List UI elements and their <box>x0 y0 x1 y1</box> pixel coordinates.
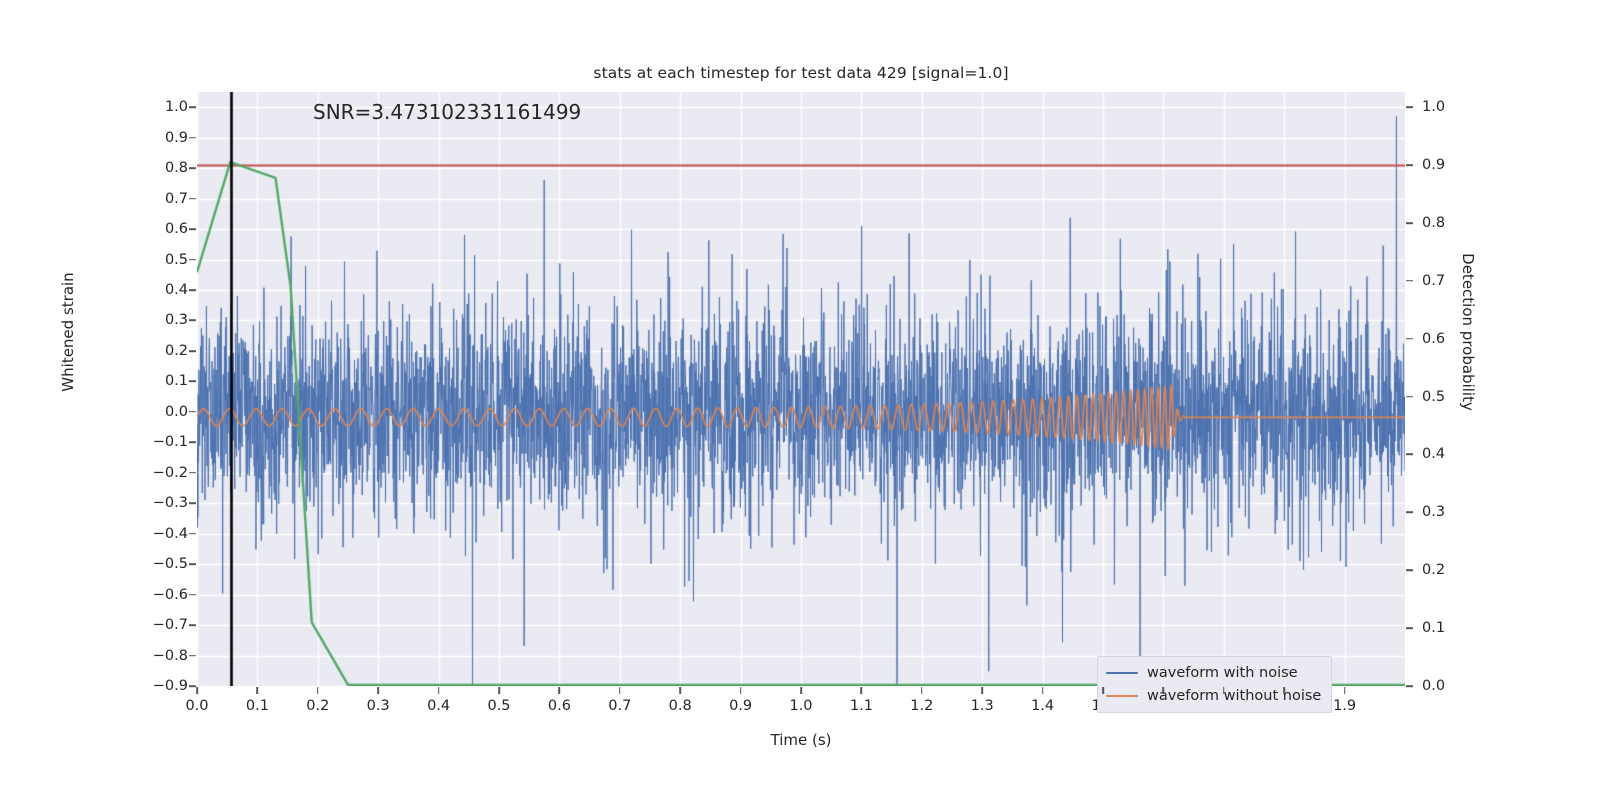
y-axis-left-tick-label: 0.6 <box>165 221 188 237</box>
y-axis-left-tick-label: 0.2 <box>165 343 188 359</box>
x-axis-tick-label: 1.9 <box>1333 698 1356 714</box>
x-axis-tick-label: 0.0 <box>185 698 208 714</box>
x-axis-tick-mark <box>317 687 319 694</box>
y-axis-left-tick-label: 0.5 <box>165 252 188 268</box>
legend-item: waveform without noise <box>1106 686 1321 706</box>
x-axis-tick-label: 0.5 <box>487 698 510 714</box>
y-axis-left-tick-mark <box>189 533 196 535</box>
x-axis-tick-label: 1.2 <box>910 698 933 714</box>
y-axis-left-tick-label: −0.2 <box>153 465 188 481</box>
x-axis-tick-label: 0.2 <box>306 698 329 714</box>
y-axis-left-tick-mark <box>189 289 196 291</box>
x-axis-tick-mark <box>800 687 802 694</box>
y-axis-right-tick-label: 0.4 <box>1422 446 1445 462</box>
y-axis-left-tick-label: −0.4 <box>153 526 188 542</box>
y-axis-left-ticks: 1.00.90.80.70.60.50.40.30.20.10.0−0.1−0.… <box>150 92 188 686</box>
y-axis-right-tick-mark <box>1406 685 1413 687</box>
y-axis-right-tick-mark <box>1406 338 1413 340</box>
matplotlib-figure: stats at each timestep for test data 429… <box>0 0 1600 800</box>
x-axis-tick-mark <box>257 687 259 694</box>
x-axis-tick-mark <box>1042 687 1044 694</box>
y-axis-left-tick-mark <box>189 381 196 383</box>
x-axis-tick-mark <box>438 687 440 694</box>
x-axis-label: Time (s) <box>197 731 1405 749</box>
x-axis-tick-label: 1.3 <box>971 698 994 714</box>
y-axis-right-label: Detection probability <box>1459 202 1477 462</box>
y-axis-left-tick-mark <box>189 228 196 230</box>
page-title: stats at each timestep for test data 429… <box>197 64 1405 82</box>
x-axis-tick-mark <box>981 687 983 694</box>
x-axis-tick-label: 0.3 <box>367 698 390 714</box>
legend-label: waveform without noise <box>1147 688 1321 704</box>
y-axis-left-tick-mark <box>189 655 196 657</box>
x-axis-tick-mark <box>679 687 681 694</box>
y-axis-right-tick-label: 0.9 <box>1422 157 1445 173</box>
y-axis-left-tick-label: −0.8 <box>153 648 188 664</box>
y-axis-right-ticks: 1.00.90.80.70.60.50.40.30.20.10.0 <box>1422 92 1462 686</box>
y-axis-left-tick-label: 0.4 <box>165 282 188 298</box>
x-axis-tick-label: 0.6 <box>548 698 571 714</box>
x-axis-tick-mark <box>1283 687 1285 694</box>
y-axis-left-tick-mark <box>189 594 196 596</box>
x-axis-tick-label: 1.1 <box>850 698 873 714</box>
x-axis-tick-mark <box>1163 687 1165 694</box>
y-axis-right-tick-label: 0.1 <box>1422 620 1445 636</box>
y-axis-right-tick-mark <box>1406 454 1413 456</box>
y-axis-right-tick-mark <box>1406 280 1413 282</box>
y-axis-left-label: Whitened strain <box>59 202 77 462</box>
y-axis-right-tick-mark <box>1406 164 1413 166</box>
x-axis-tick-mark <box>861 687 863 694</box>
y-axis-left-tick-mark <box>189 259 196 261</box>
x-axis-tick-label: 1.4 <box>1031 698 1054 714</box>
x-axis-ticks: 0.00.10.20.30.40.50.60.70.80.91.01.11.21… <box>0 698 1600 722</box>
y-axis-left-tick-mark <box>189 502 196 504</box>
y-axis-right-tick-mark <box>1406 627 1413 629</box>
y-axis-left-tick-mark <box>189 442 196 444</box>
y-axis-right-tick-label: 0.2 <box>1422 562 1445 578</box>
x-axis-tick-mark <box>377 687 379 694</box>
snr-annotation: SNR=3.473102331161499 <box>313 100 581 124</box>
x-axis-tick-label: 0.1 <box>246 698 269 714</box>
y-axis-right-tick-label: 0.6 <box>1422 331 1445 347</box>
x-axis-tick-mark <box>196 687 198 694</box>
y-axis-left-tick-label: −0.7 <box>153 617 188 633</box>
x-axis-tick-mark <box>1102 687 1104 694</box>
y-axis-left-tick-mark <box>189 198 196 200</box>
x-axis-tick-mark <box>619 687 621 694</box>
y-axis-left-tick-mark <box>189 137 196 139</box>
y-axis-left-tick-label: 0.7 <box>165 191 188 207</box>
legend-color-swatch <box>1106 672 1138 675</box>
x-axis-tick-label: 0.4 <box>427 698 450 714</box>
legend-item: waveform with noise <box>1106 663 1321 683</box>
x-axis-tick-mark <box>498 687 500 694</box>
y-axis-left-tick-mark <box>189 167 196 169</box>
y-axis-right-tick-label: 0.7 <box>1422 273 1445 289</box>
y-axis-right-tick-mark <box>1406 222 1413 224</box>
legend: waveform with noisewaveform without nois… <box>1097 656 1332 713</box>
y-axis-right-tick-label: 1.0 <box>1422 99 1445 115</box>
y-axis-left-tick-mark <box>189 350 196 352</box>
y-axis-right-tick-mark <box>1406 396 1413 398</box>
x-axis-tick-mark <box>1344 687 1346 694</box>
y-axis-left-tick-label: 0.8 <box>165 160 188 176</box>
y-axis-left-tick-label: −0.1 <box>153 434 188 450</box>
y-axis-left-tick-mark <box>189 106 196 108</box>
y-axis-left-tick-mark <box>189 472 196 474</box>
x-axis-tick-label: 0.7 <box>608 698 631 714</box>
plot-canvas <box>197 92 1405 686</box>
y-axis-left-tick-mark <box>189 320 196 322</box>
y-axis-left-tick-label: 0.0 <box>165 404 188 420</box>
x-axis-tick-label: 1.0 <box>789 698 812 714</box>
y-axis-left-tick-label: 1.0 <box>165 99 188 115</box>
y-axis-right-tick-mark <box>1406 512 1413 514</box>
x-axis-tick-mark <box>1223 687 1225 694</box>
y-axis-left-tick-label: −0.5 <box>153 556 188 572</box>
y-axis-right-tick-mark <box>1406 106 1413 108</box>
y-axis-left-tick-mark <box>189 685 196 687</box>
x-axis-tick-mark <box>559 687 561 694</box>
y-axis-right-tick-label: 0.3 <box>1422 504 1445 520</box>
x-axis-tick-mark <box>740 687 742 694</box>
y-axis-right-tick-label: 0.0 <box>1422 678 1445 694</box>
y-axis-left-tick-label: −0.6 <box>153 587 188 603</box>
y-axis-right-tick-label: 0.8 <box>1422 215 1445 231</box>
y-axis-left-tick-mark <box>189 563 196 565</box>
y-axis-right-tick-label: 0.5 <box>1422 389 1445 405</box>
x-axis-tick-label: 0.9 <box>729 698 752 714</box>
legend-label: waveform with noise <box>1147 665 1298 681</box>
y-axis-left-tick-label: −0.9 <box>153 678 188 694</box>
legend-color-swatch <box>1106 695 1138 698</box>
y-axis-left-tick-mark <box>189 411 196 413</box>
y-axis-right-tick-mark <box>1406 569 1413 571</box>
y-axis-left-tick-label: 0.9 <box>165 130 188 146</box>
y-axis-left-tick-label: 0.1 <box>165 373 188 389</box>
y-axis-left-tick-label: −0.3 <box>153 495 188 511</box>
y-axis-left-tick-label: 0.3 <box>165 312 188 328</box>
x-axis-tick-mark <box>921 687 923 694</box>
plot-area <box>197 92 1405 686</box>
x-axis-tick-label: 0.8 <box>669 698 692 714</box>
y-axis-left-tick-mark <box>189 624 196 626</box>
